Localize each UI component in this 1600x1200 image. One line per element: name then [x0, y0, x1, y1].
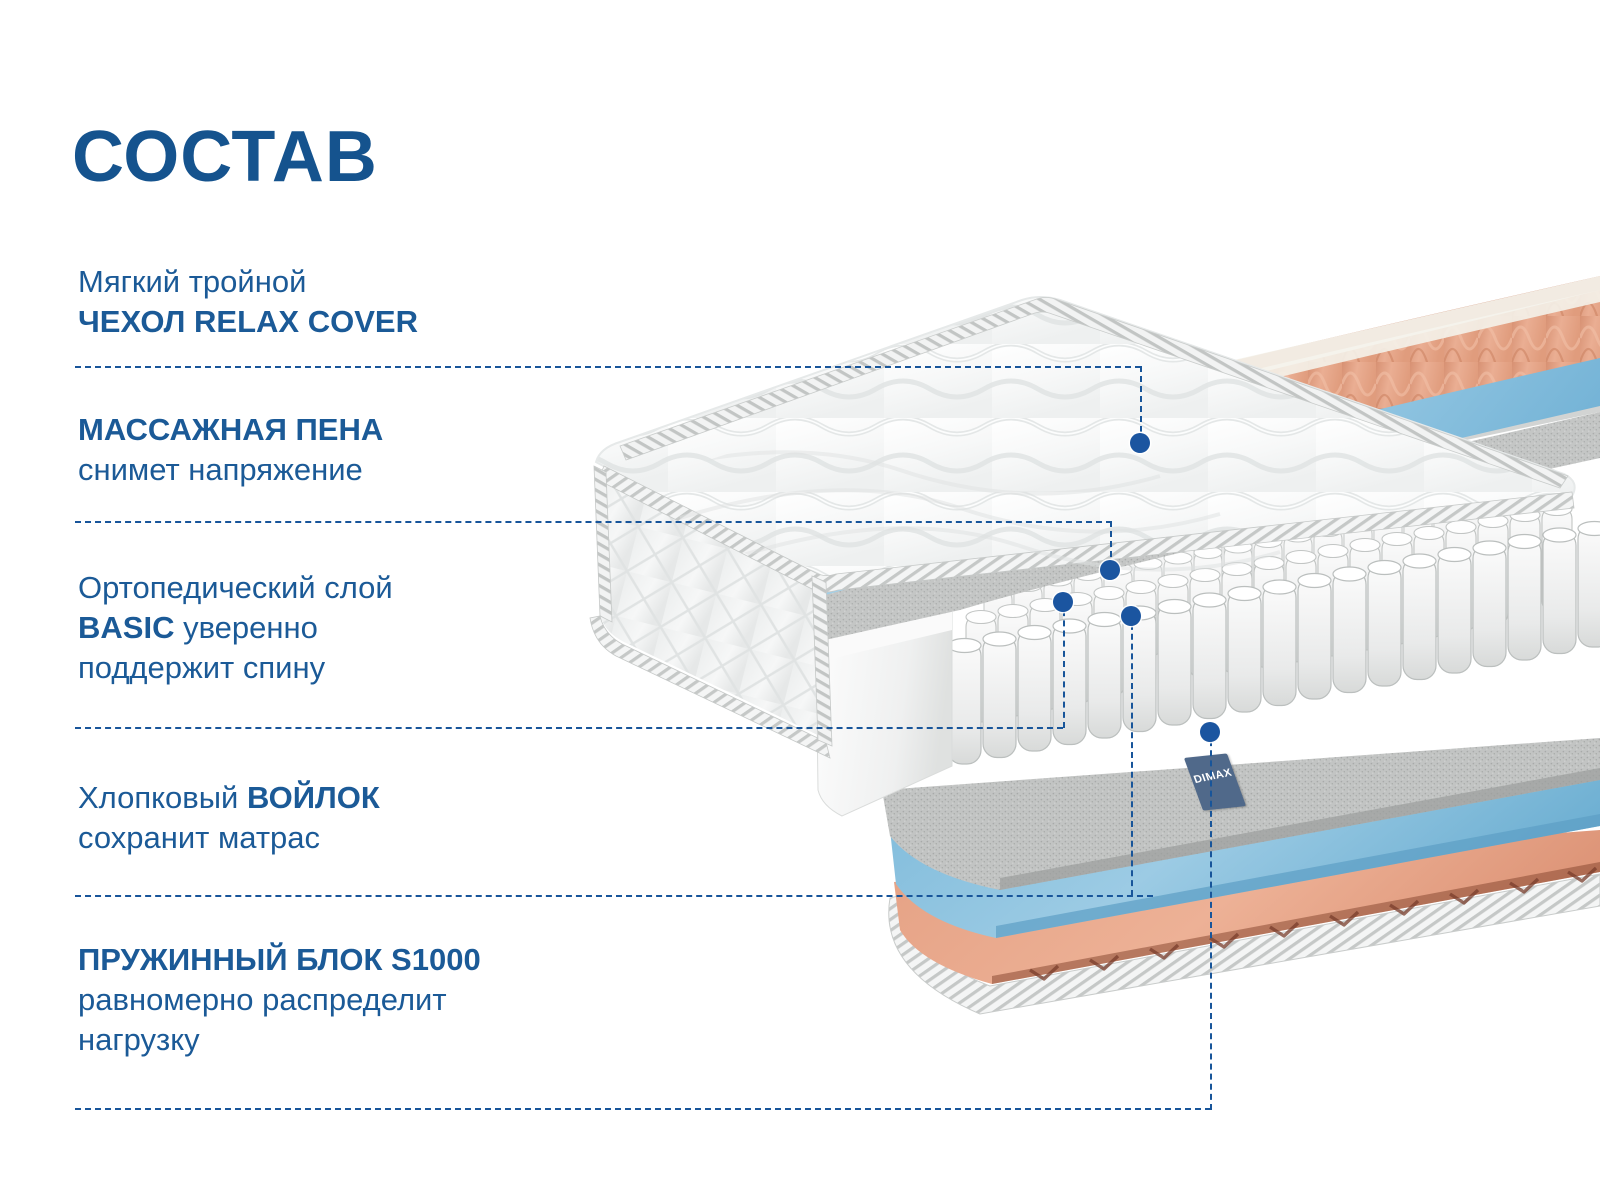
layer-label-spring-block: ПРУЖИННЫЙ БЛОК S1000 равномерно распреде… — [78, 940, 481, 1060]
layer-label-massage-foam: МАССАЖНАЯ ПЕНА снимет напряжение — [78, 410, 383, 490]
layer-label-relax-cover: Мягкий тройной ЧЕХОЛ RELAX COVER — [78, 262, 418, 342]
callout-dot-orthopedic-basic — [1053, 592, 1073, 612]
basic-keyword: BASIC — [78, 610, 174, 645]
leader-line-cotton-felt — [1131, 614, 1133, 896]
felt-line1: Хлопковый ВОЙЛОК — [78, 778, 380, 818]
massage-foam-line2: снимет напряжение — [78, 450, 383, 490]
basic-line1: Ортопедический слой — [78, 568, 393, 608]
relax-cover-line1: Мягкий тройной — [78, 262, 418, 302]
leader-line-relax-cover — [1140, 366, 1142, 442]
basic-line3: поддержит спину — [78, 648, 393, 688]
divider-4 — [75, 895, 1153, 897]
leader-line-spring-block — [1210, 730, 1212, 1110]
divider-1 — [75, 366, 1141, 368]
mattress-illustration: DIMAX — [560, 270, 1600, 1160]
divider-3 — [75, 727, 1063, 729]
spring-block-line1: ПРУЖИННЫЙ БЛОК S1000 — [78, 940, 481, 980]
spring-block-line3: нагрузку — [78, 1020, 481, 1060]
callout-dot-spring-block — [1200, 722, 1220, 742]
divider-5 — [75, 1108, 1211, 1110]
felt-line2: сохранит матрас — [78, 818, 380, 858]
layer-label-orthopedic-basic: Ортопедический слой BASIC уверенно подде… — [78, 568, 393, 688]
callout-dot-cotton-felt — [1121, 606, 1141, 626]
spring-block-line2: равномерно распределит — [78, 980, 481, 1020]
page-title: СОСТАВ — [72, 121, 378, 193]
divider-2 — [75, 521, 1112, 523]
massage-foam-line1: МАССАЖНАЯ ПЕНА — [78, 410, 383, 450]
brand-tag-text: DIMAX — [1190, 766, 1236, 786]
callout-dot-relax-cover — [1130, 433, 1150, 453]
relax-cover-line2: ЧЕХОЛ RELAX COVER — [78, 302, 418, 342]
leader-line-orthopedic-basic — [1063, 600, 1065, 728]
layer-label-cotton-felt: Хлопковый ВОЙЛОК сохранит матрас — [78, 778, 380, 858]
felt-keyword: ВОЙЛОК — [247, 780, 380, 815]
callout-dot-massage-foam — [1100, 560, 1120, 580]
basic-line2-rest: уверенно — [174, 610, 317, 645]
basic-line2: BASIC уверенно — [78, 608, 393, 648]
felt-line1-pre: Хлопковый — [78, 780, 247, 815]
